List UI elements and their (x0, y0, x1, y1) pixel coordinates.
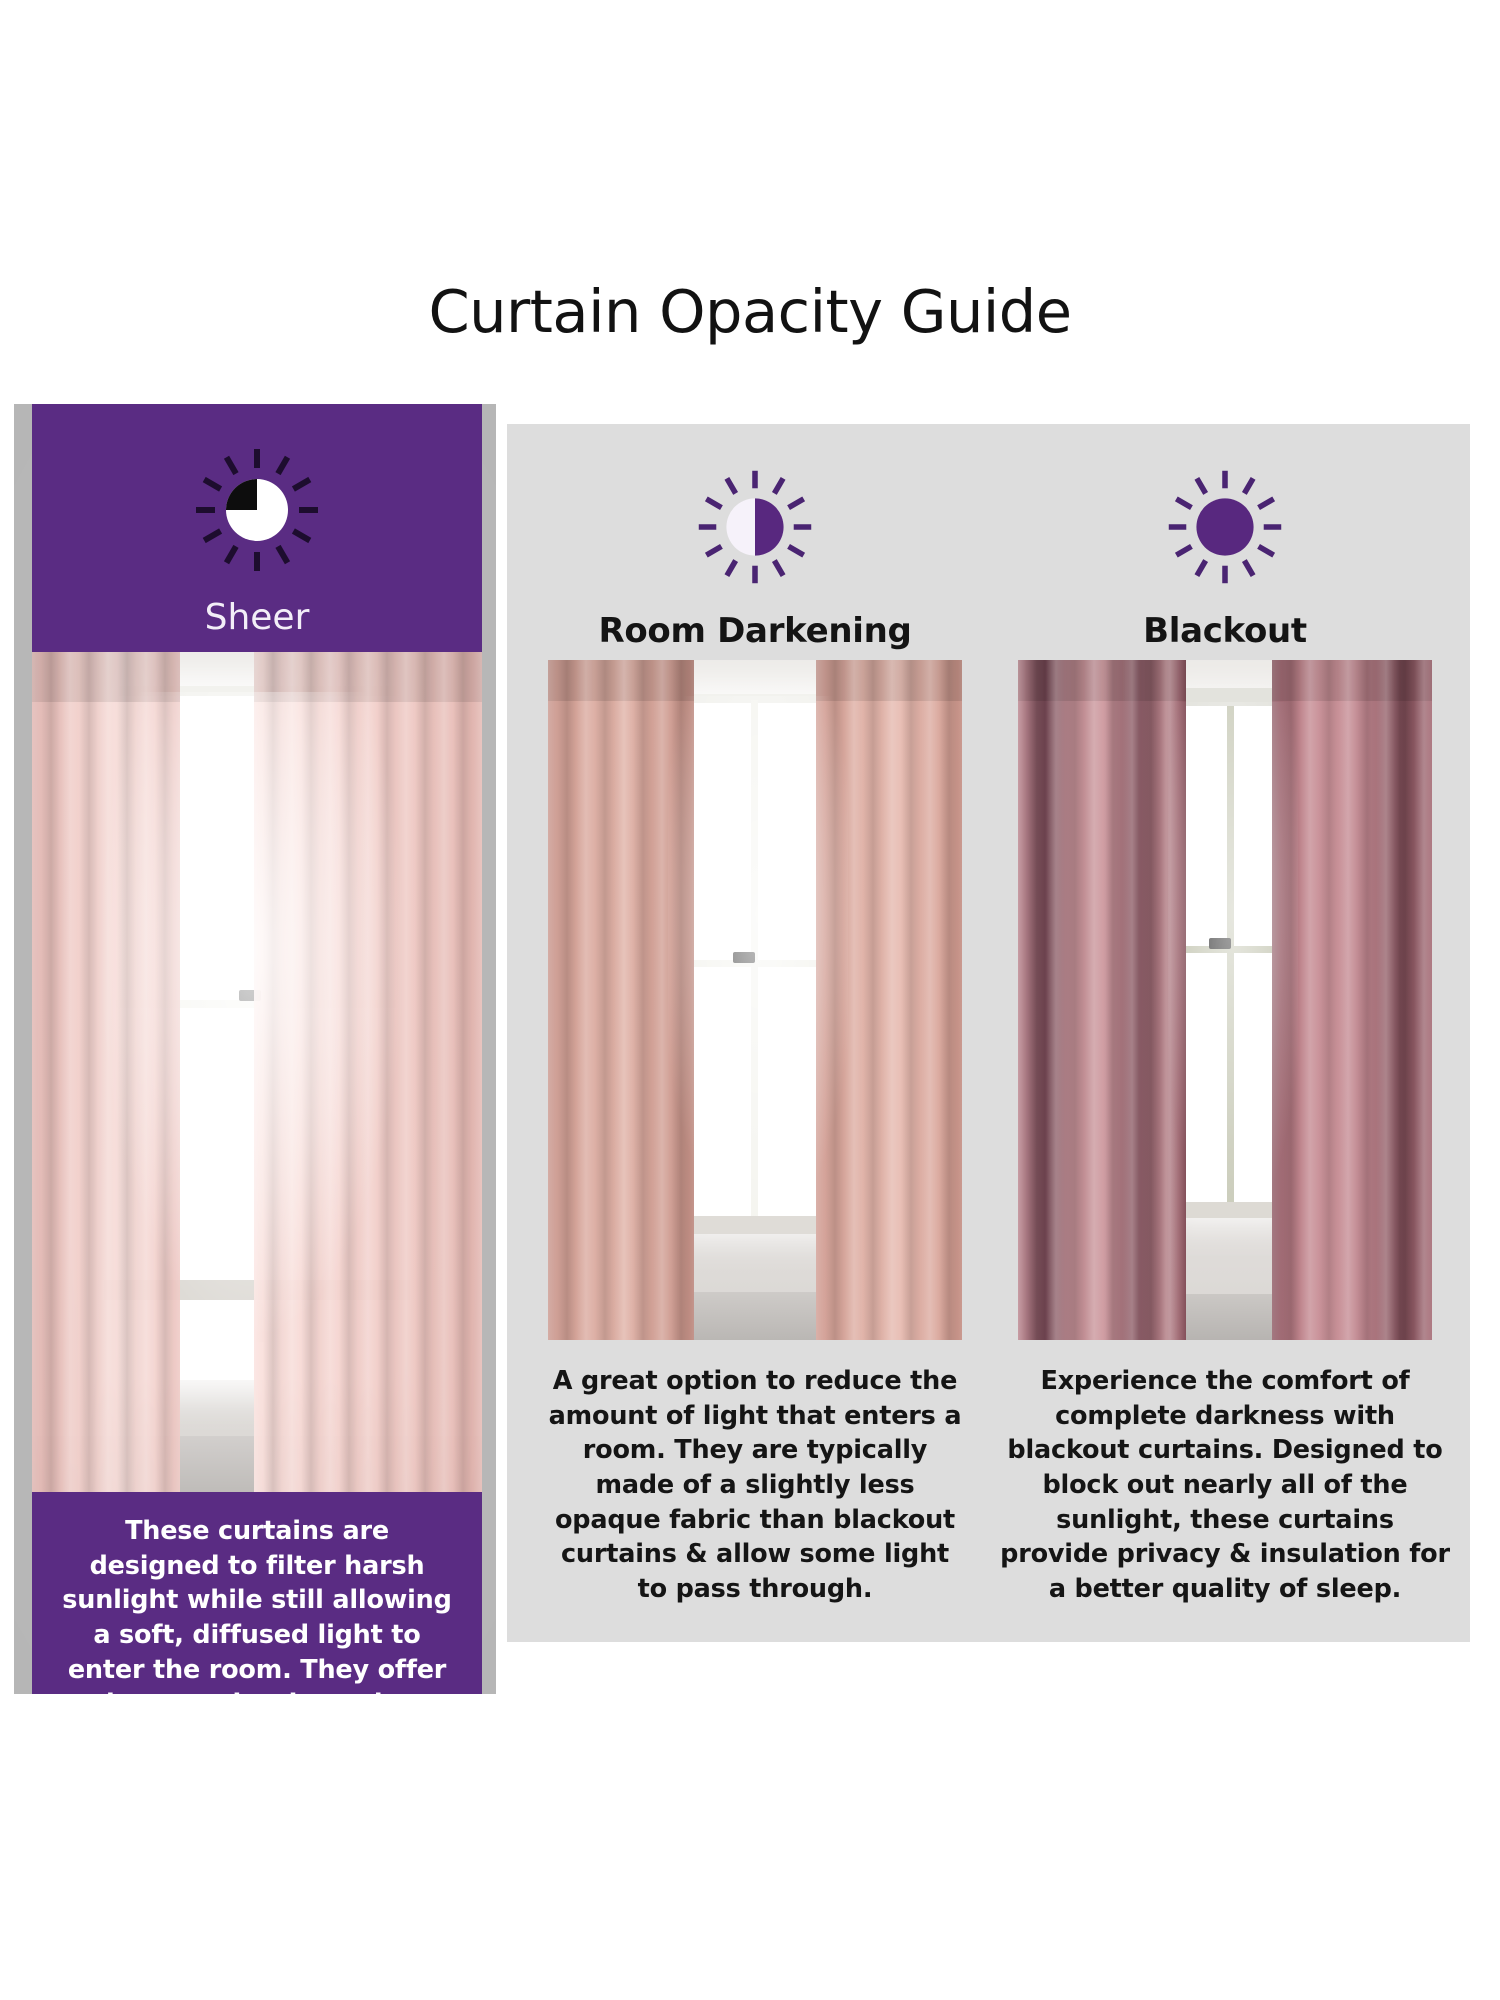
blackout-column[interactable]: Blackout Experience the comfort of compl… (1000, 424, 1450, 1642)
room-darkening-heading: Room Darkening (540, 614, 970, 648)
room-darkening-caption: A great option to reduce the amount of l… (548, 1364, 962, 1607)
sheer-column-card[interactable]: Sheer These curtains are designed to (32, 404, 482, 1694)
sun-quarter-dark-icon (32, 446, 482, 574)
blackout-heading: Blackout (1000, 614, 1450, 648)
blackout-curtain-photo (1018, 660, 1432, 1340)
blackout-curtain-left (1018, 660, 1186, 1340)
blackout-caption: Experience the comfort of complete darkn… (1000, 1364, 1450, 1607)
sheer-caption: These curtains are designed to filter ha… (58, 1514, 456, 1694)
sun-half-dark-icon (540, 468, 970, 586)
room-darkening-curtain-photo (548, 660, 962, 1340)
sheer-heading: Sheer (32, 600, 482, 636)
room-darkening-column[interactable]: Room Darkening A great option to reduce … (540, 424, 970, 1642)
sun-full-dark-icon (1000, 468, 1450, 586)
sheer-curtain-photo (32, 652, 482, 1492)
page-title: Curtain Opacity Guide (0, 282, 1500, 341)
